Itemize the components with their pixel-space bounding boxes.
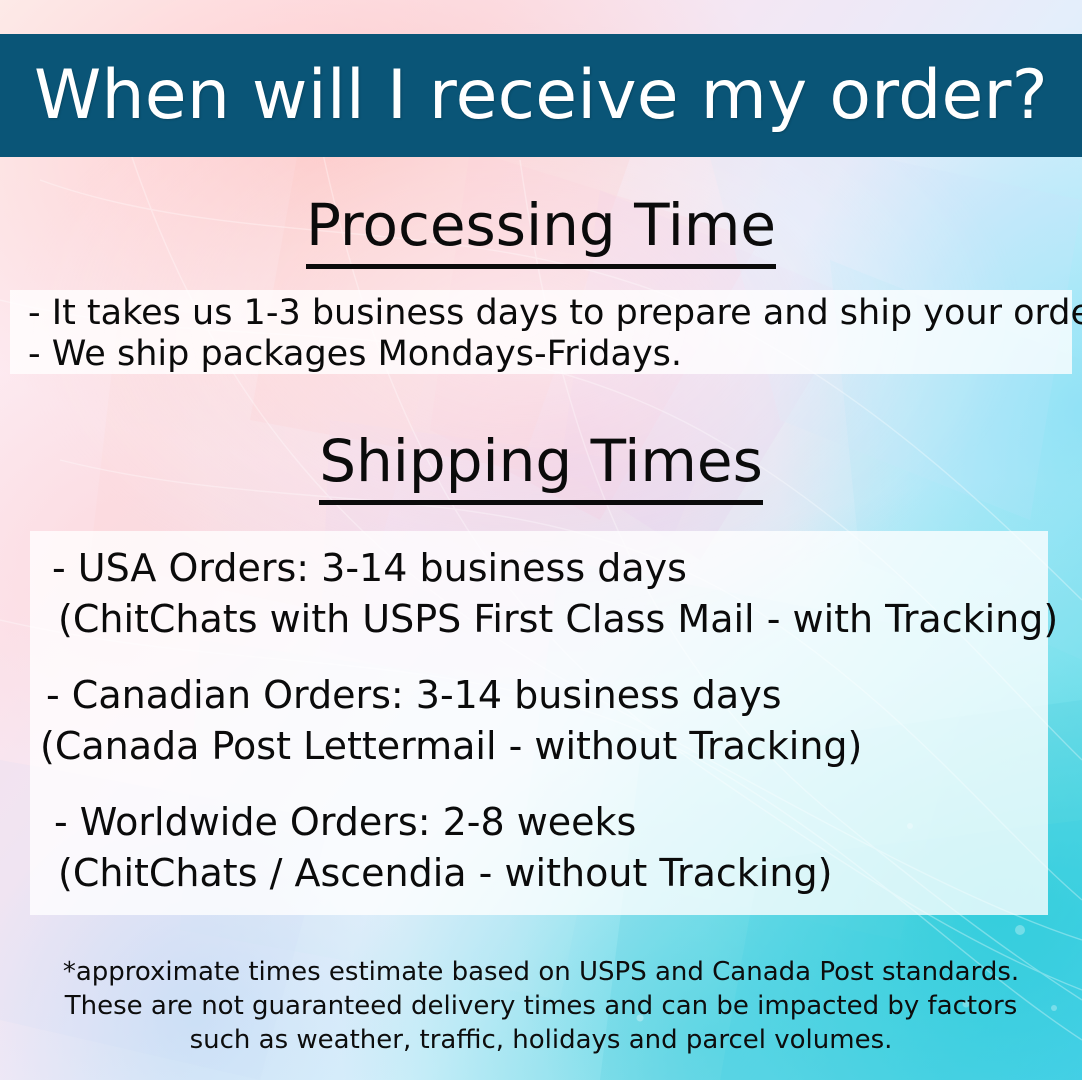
shipping-worldwide-line-2: (ChitChats / Ascendia - without Tracking… bbox=[40, 848, 1048, 899]
section-heading-shipping: Shipping Times bbox=[0, 432, 1082, 490]
processing-line-1: - It takes us 1-3 business days to prepa… bbox=[28, 293, 1072, 334]
footnote-line-1: *approximate times estimate based on USP… bbox=[0, 955, 1082, 989]
shipping-group-worldwide: - Worldwide Orders: 2-8 weeks (ChitChats… bbox=[40, 797, 1048, 899]
shipping-canada-line-1: - Canadian Orders: 3-14 business days bbox=[40, 670, 1048, 721]
header-banner: When will I receive my order? bbox=[0, 34, 1082, 157]
footnote-line-3: such as weather, traffic, holidays and p… bbox=[0, 1023, 1082, 1057]
shipping-usa-line-2: (ChitChats with USPS First Class Mail - … bbox=[40, 594, 1048, 645]
shipping-worldwide-line-1: - Worldwide Orders: 2-8 weeks bbox=[40, 797, 1048, 848]
processing-line-2: - We ship packages Mondays-Fridays. bbox=[28, 334, 1072, 375]
shipping-group-canada: - Canadian Orders: 3-14 business days (C… bbox=[40, 670, 1048, 772]
shipping-canada-line-2: (Canada Post Lettermail - without Tracki… bbox=[40, 721, 1048, 772]
shipping-usa-line-1: - USA Orders: 3-14 business days bbox=[40, 543, 1048, 594]
footnote-line-2: These are not guaranteed delivery times … bbox=[0, 989, 1082, 1023]
shipping-group-usa: - USA Orders: 3-14 business days (ChitCh… bbox=[40, 543, 1048, 645]
section-heading-processing-label: Processing Time bbox=[306, 191, 776, 269]
processing-text-panel: - It takes us 1-3 business days to prepa… bbox=[10, 290, 1072, 374]
page-title: When will I receive my order? bbox=[34, 62, 1048, 130]
poster-canvas: When will I receive my order? Processing… bbox=[0, 0, 1082, 1080]
section-heading-processing: Processing Time bbox=[0, 196, 1082, 254]
section-heading-shipping-label: Shipping Times bbox=[319, 427, 763, 505]
shipping-text-panel: - USA Orders: 3-14 business days (ChitCh… bbox=[30, 531, 1048, 915]
footnote-disclaimer: *approximate times estimate based on USP… bbox=[0, 955, 1082, 1057]
